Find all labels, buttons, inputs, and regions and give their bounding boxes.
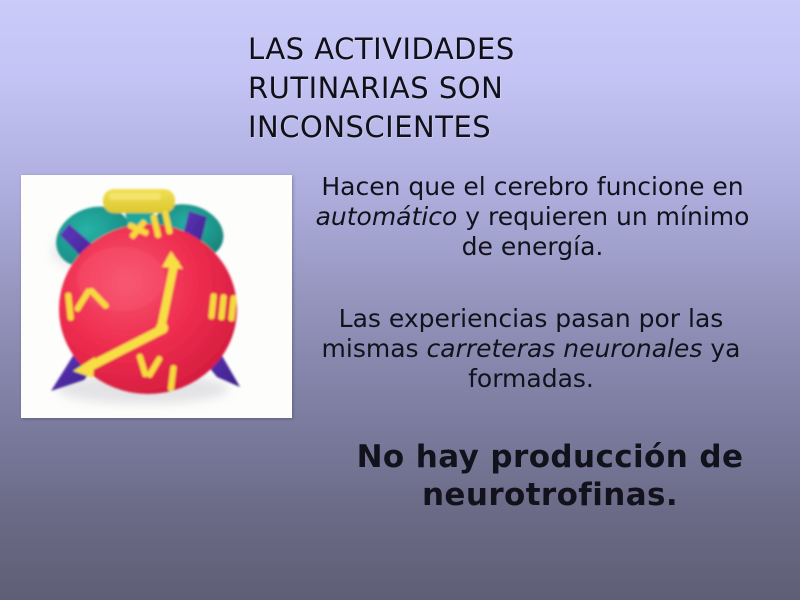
clock-image-panel: [21, 175, 292, 418]
slide-canvas: LAS ACTIVIDADES RUTINARIAS SON INCONSCIE…: [0, 0, 800, 600]
page-title: LAS ACTIVIDADES RUTINARIAS SON INCONSCIE…: [248, 30, 668, 147]
body-paragraph-1: Hacen que el cerebro funcione en automát…: [305, 172, 760, 262]
paragraph-2-emphasis: carreteras neuronales: [426, 334, 702, 363]
paragraph-1-part-2: y requieren un mínimo de energía.: [457, 202, 749, 261]
body-paragraph-2: Las experiencias pasan por las mismas ca…: [300, 304, 762, 394]
paragraph-1-part-1: Hacen que el cerebro funcione en: [321, 172, 743, 201]
alarm-clock-icon: [21, 175, 292, 418]
body-paragraph-3-conclusion: No hay producción de neurotrofinas.: [330, 438, 770, 514]
paragraph-1-emphasis: automático: [316, 202, 458, 231]
